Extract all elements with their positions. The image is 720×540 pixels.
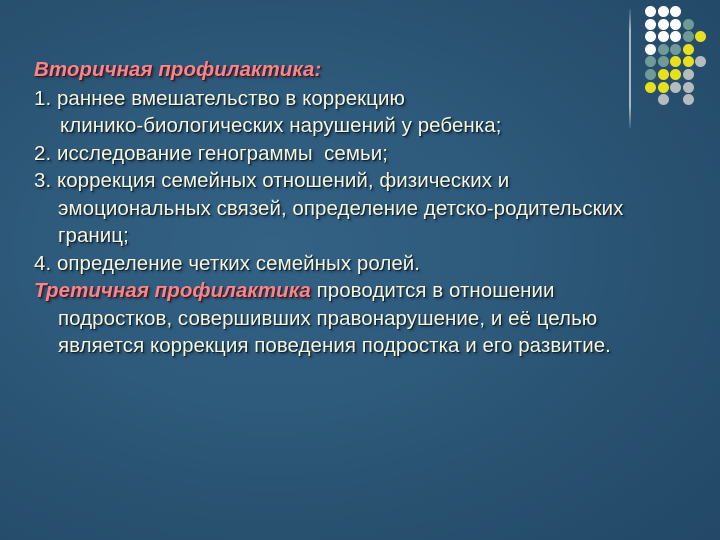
deco-dot-white [670, 19, 681, 30]
slide-text-body: Вторичная профилактика: 1. раннее вмешат… [34, 56, 646, 360]
deco-dot-yellow [658, 82, 669, 93]
list-item-1: 1. раннее вмешательство в коррекцию [34, 85, 646, 113]
deco-dot-teal [658, 56, 669, 67]
deco-dot-white [645, 19, 656, 30]
list-item-4-text: определение четких семейных ролей. [57, 252, 420, 275]
deco-dot-yellow [658, 69, 669, 80]
deco-dot-white [658, 31, 669, 42]
deco-dot-gray [683, 69, 694, 80]
deco-dot-white [645, 6, 656, 17]
list-item-2-text: исследование генограммы семьи; [57, 142, 388, 165]
closing-accent-term: Третичная профилактика [34, 279, 311, 302]
deco-dot-yellow [670, 56, 681, 67]
deco-dot-yellow [645, 82, 656, 93]
deco-dot-yellow [695, 31, 706, 42]
deco-dot-gray [658, 94, 669, 105]
deco-dot-white [645, 44, 656, 55]
list-item-2-number: 2. [34, 142, 51, 165]
deco-dot-white [645, 31, 656, 42]
list-item-3-text: коррекция семейных отношений, физических… [57, 169, 509, 192]
deco-dot-teal [645, 56, 656, 67]
deco-dot-gray [670, 82, 681, 93]
presentation-slide: Вторичная профилактика: 1. раннее вмешат… [0, 0, 720, 540]
deco-dot-teal [645, 69, 656, 80]
deco-dot-white [670, 6, 681, 17]
deco-dot-white [658, 6, 669, 17]
deco-dot-white [658, 19, 669, 30]
deco-dot-gray [683, 94, 694, 105]
closing-paragraph: Третичная профилактика проводится в отно… [34, 277, 646, 360]
deco-dot-gray [683, 82, 694, 93]
deco-dot-yellow [683, 56, 694, 67]
deco-dot-teal [683, 19, 694, 30]
list-item-3-number: 3. [34, 169, 51, 192]
deco-dot-yellow [670, 69, 681, 80]
list-item-1-text: раннее вмешательство в коррекцию [57, 87, 405, 110]
deco-dot-teal [658, 44, 669, 55]
list-item-3-continuation: эмоциональных связей, определение детско… [34, 195, 646, 250]
list-item-3: 3. коррекция семейных отношений, физичес… [34, 167, 646, 195]
list-item-4: 4. определение четких семейных ролей. [34, 250, 646, 278]
list-item-1-continuation: клинико-биологических нарушений у ребенк… [34, 112, 646, 140]
deco-dot-teal [683, 31, 694, 42]
deco-dot-gray [695, 56, 706, 67]
deco-dot-yellow [683, 44, 694, 55]
deco-dot-teal [670, 44, 681, 55]
list-item-1-number: 1. [34, 87, 51, 110]
deco-dot-white [670, 31, 681, 42]
slide-heading: Вторичная профилактика: [34, 56, 646, 84]
list-item-2: 2. исследование генограммы семьи; [34, 140, 646, 168]
dot-grid [645, 6, 720, 126]
list-item-4-number: 4. [34, 252, 51, 275]
